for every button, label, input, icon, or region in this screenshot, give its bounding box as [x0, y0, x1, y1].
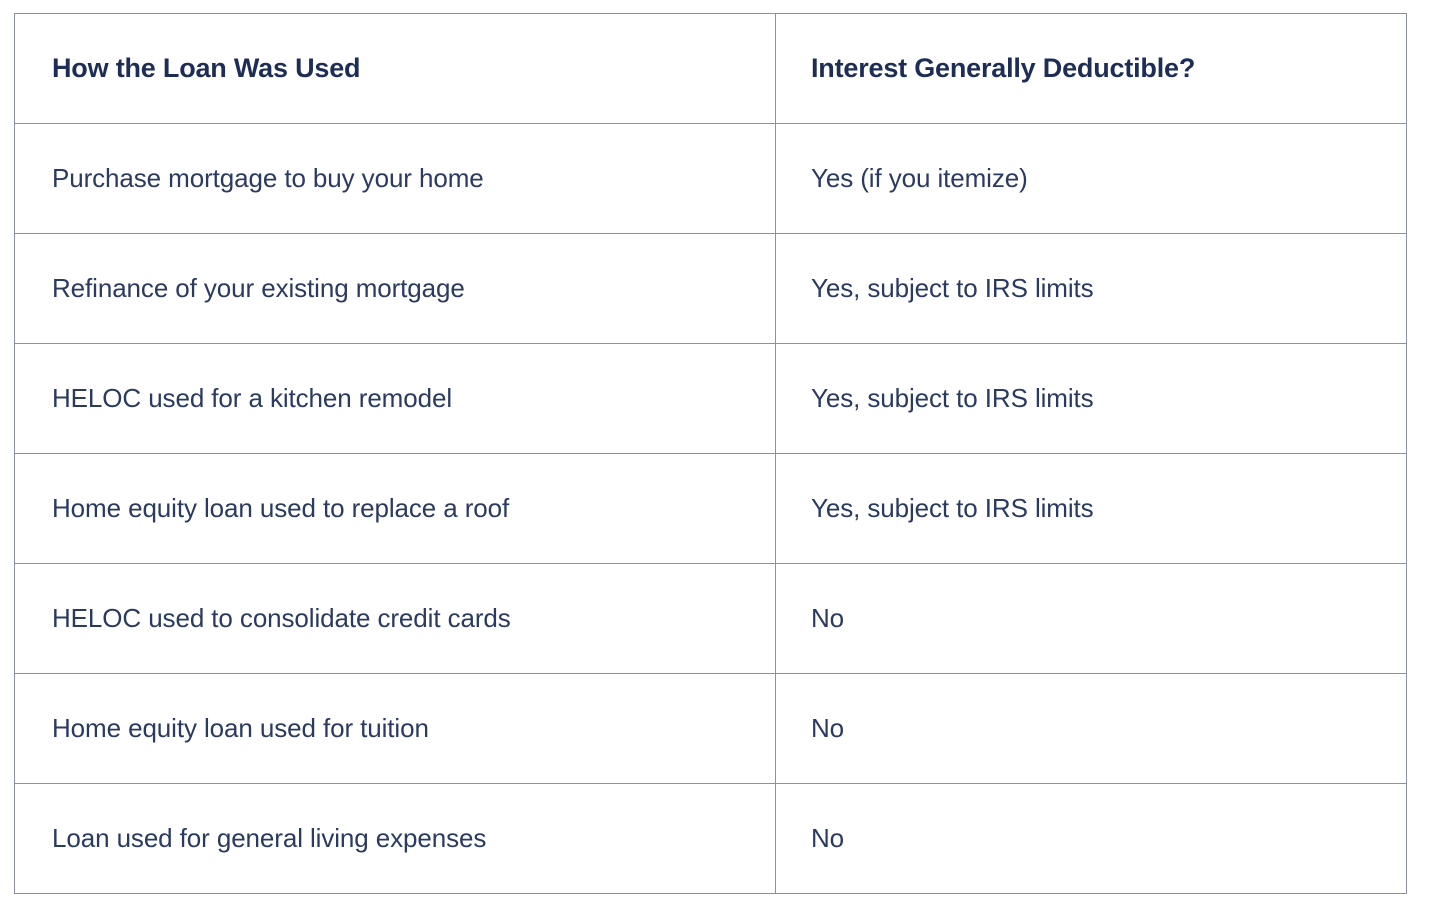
cell-loan-use: Refinance of your existing mortgage — [15, 234, 776, 344]
cell-loan-use: HELOC used for a kitchen remodel — [15, 344, 776, 454]
column-header-interest-deductible: Interest Generally Deductible? — [776, 14, 1407, 124]
table-header-row: How the Loan Was Used Interest Generally… — [15, 14, 1407, 124]
table-row: HELOC used to consolidate credit cards N… — [15, 564, 1407, 674]
cell-deductible: Yes, subject to IRS limits — [776, 454, 1407, 564]
cell-deductible: No — [776, 784, 1407, 894]
table-row: Refinance of your existing mortgage Yes,… — [15, 234, 1407, 344]
cell-loan-use: Loan used for general living expenses — [15, 784, 776, 894]
cell-deductible: Yes (if you itemize) — [776, 124, 1407, 234]
cell-deductible: No — [776, 564, 1407, 674]
column-header-loan-use: How the Loan Was Used — [15, 14, 776, 124]
table-row: Home equity loan used for tuition No — [15, 674, 1407, 784]
cell-deductible: Yes, subject to IRS limits — [776, 234, 1407, 344]
cell-deductible: No — [776, 674, 1407, 784]
cell-loan-use: Home equity loan used for tuition — [15, 674, 776, 784]
cell-loan-use: Purchase mortgage to buy your home — [15, 124, 776, 234]
cell-deductible: Yes, subject to IRS limits — [776, 344, 1407, 454]
deductibility-table: How the Loan Was Used Interest Generally… — [14, 13, 1407, 894]
table-row: Purchase mortgage to buy your home Yes (… — [15, 124, 1407, 234]
cell-loan-use: HELOC used to consolidate credit cards — [15, 564, 776, 674]
table-row: Loan used for general living expenses No — [15, 784, 1407, 894]
table-row: HELOC used for a kitchen remodel Yes, su… — [15, 344, 1407, 454]
cell-loan-use: Home equity loan used to replace a roof — [15, 454, 776, 564]
table-header: How the Loan Was Used Interest Generally… — [15, 14, 1407, 124]
table-body: Purchase mortgage to buy your home Yes (… — [15, 124, 1407, 894]
deductibility-table-container: How the Loan Was Used Interest Generally… — [14, 13, 1406, 893]
table-row: Home equity loan used to replace a roof … — [15, 454, 1407, 564]
